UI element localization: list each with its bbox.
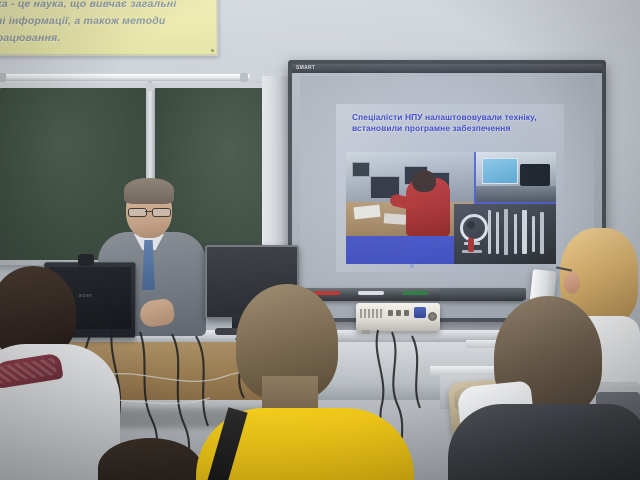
photo-vignette xyxy=(0,0,640,480)
classroom-photo: атика - це наука, що вивчає загальні вос… xyxy=(0,0,640,480)
